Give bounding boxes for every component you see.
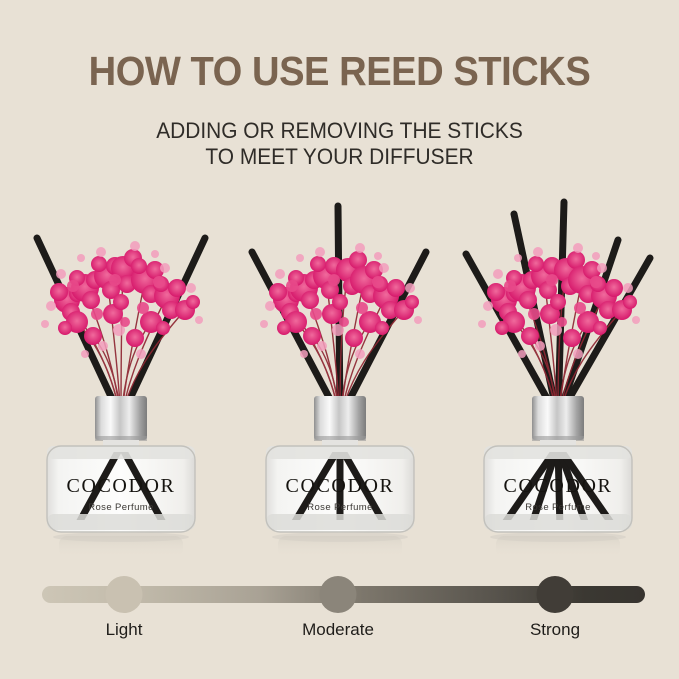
bottle-brand-label: COCODOR (504, 475, 613, 497)
bottle-variant-label: Rose Perfume (88, 502, 154, 513)
product-row: COCODOR Rose Perfume (0, 196, 679, 566)
intensity-knob-light[interactable] (106, 576, 143, 613)
subtitle-line-2: TO MEET YOUR DIFFUSER (17, 144, 662, 170)
subtitle-line-1: ADDING OR REMOVING THE STICKS (156, 118, 523, 143)
diffuser-bottle-light: COCODOR Rose Perfume (33, 396, 209, 566)
intensity-label-light: Light (44, 620, 204, 640)
diffuser-light: COCODOR Rose Perfume (15, 196, 227, 566)
infographic-canvas: HOW TO USE REED STICKS ADDING OR REMOVIN… (0, 0, 679, 679)
intensity-knob-strong[interactable] (537, 576, 574, 613)
diffuser-moderate: COCODOR Rose Perfume (234, 196, 446, 566)
diffuser-strong: COCODOR Rose Perfume (452, 196, 664, 566)
intensity-scale: Light Moderate Strong (0, 572, 679, 642)
bottle-variant-label: Rose Perfume (307, 502, 373, 513)
bottle-brand-label: COCODOR (67, 475, 176, 497)
diffuser-bottle-moderate: COCODOR Rose Perfume (252, 396, 428, 566)
page-subtitle: ADDING OR REMOVING THE STICKS TO MEET YO… (17, 118, 662, 170)
page-title: HOW TO USE REED STICKS (24, 48, 655, 94)
intensity-knob-moderate[interactable] (320, 576, 357, 613)
bottle-brand-label: COCODOR (286, 475, 395, 497)
intensity-label-moderate: Moderate (258, 620, 418, 640)
diffuser-bottle-strong: COCODOR Rose Perfume (470, 396, 646, 566)
bottle-variant-label: Rose Perfume (525, 502, 591, 513)
intensity-label-strong: Strong (475, 620, 635, 640)
